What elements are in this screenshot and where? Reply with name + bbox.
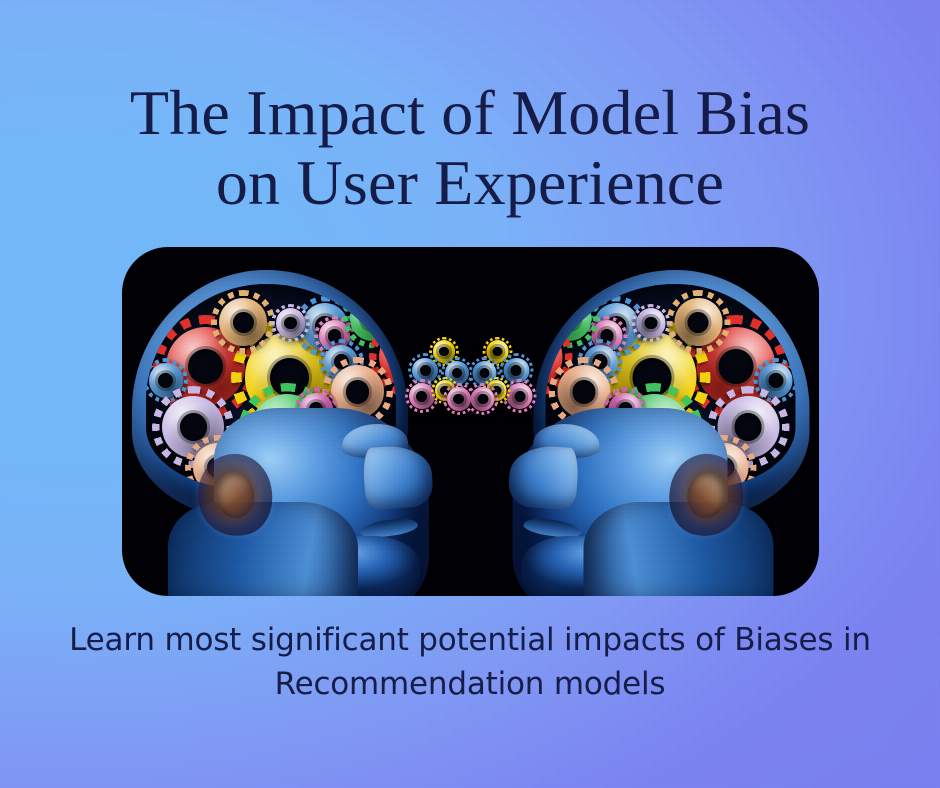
gear-chain-pink-right <box>447 387 471 411</box>
page-title: The Impact of Model Bias on User Experie… <box>0 78 940 218</box>
illustration-card <box>122 247 819 596</box>
gear-shading <box>471 387 495 411</box>
gear-chain-pink-right <box>471 387 495 411</box>
gear-shading <box>447 387 471 411</box>
gear-chain-pink-left <box>506 383 532 409</box>
subtitle-line-1: Learn most significant potential impacts… <box>0 618 940 662</box>
title-line-2: on User Experience <box>0 148 940 218</box>
gear-chain <box>122 247 471 596</box>
poster-canvas: The Impact of Model Bias on User Experie… <box>0 0 940 788</box>
illustration-stage <box>122 247 819 596</box>
gear-shading <box>506 383 532 409</box>
head-left <box>122 247 471 596</box>
title-line-1: The Impact of Model Bias <box>0 78 940 148</box>
subtitle-line-2: Recommendation models <box>0 662 940 706</box>
page-subtitle: Learn most significant potential impacts… <box>0 618 940 706</box>
head-right <box>471 247 820 596</box>
gear-chain <box>471 247 820 596</box>
